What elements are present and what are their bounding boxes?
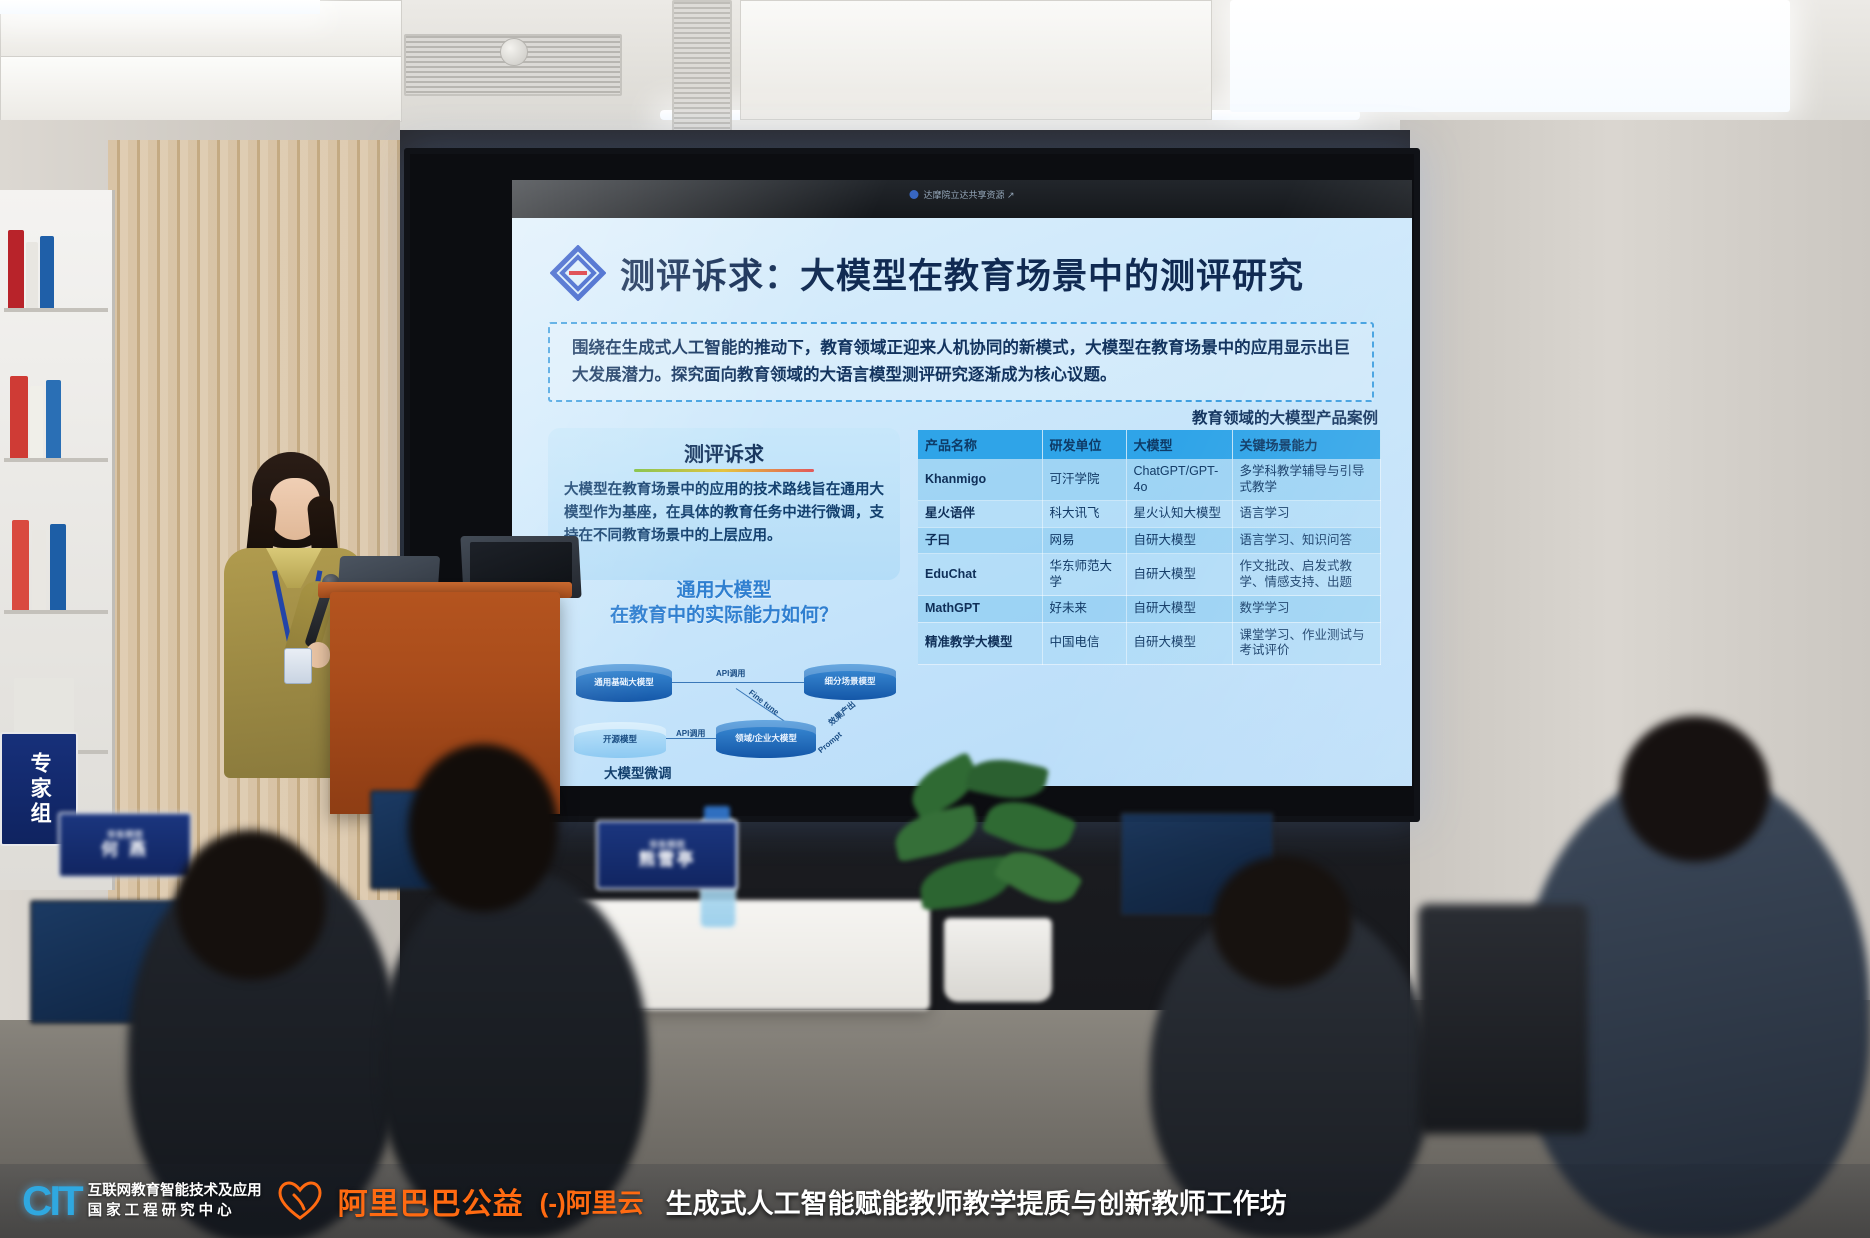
cell-org: 网易	[1042, 527, 1126, 554]
alibaba-heart-icon	[278, 1181, 322, 1221]
table-col-product: 产品名称	[918, 430, 1042, 459]
key-question-line2: 在教育中的实际能力如何？	[548, 603, 900, 628]
cell-org: 华东师范大学	[1042, 554, 1126, 596]
cell-capability: 作文批改、启发式教学、情感支持、出题	[1232, 554, 1380, 596]
cell-model: ChatGPT/GPT-4o	[1126, 459, 1232, 501]
cell-model: 自研大模型	[1126, 622, 1232, 664]
event-title: 生成式人工智能赋能教师教学提质与创新教师工作坊	[666, 1182, 1287, 1221]
ceiling-panel	[740, 0, 1212, 120]
cell-model: 星火认知大模型	[1126, 501, 1232, 528]
diagram-edge-finetune: Fine tune	[747, 688, 781, 717]
ceiling-vent	[672, 0, 732, 132]
table-row: 精准教学大模型 中国电信 自研大模型 课堂学习、作业测试与考试评价	[918, 622, 1380, 664]
key-question: 通用大模型 在教育中的实际能力如何？	[548, 578, 900, 629]
requirement-card: 测评诉求 大模型在教育场景中的应用的技术路线旨在通用大模型作为基座，在具体的教育…	[548, 428, 900, 580]
cell-capability: 数学学习	[1232, 596, 1380, 623]
ceiling-light-strip	[0, 0, 320, 14]
table-row: EduChat 华东师范大学 自研大模型 作文批改、启发式教学、情感支持、出题	[918, 554, 1380, 596]
cell-model: 自研大模型	[1126, 554, 1232, 596]
cit-mark-icon: CIT	[22, 1177, 81, 1225]
photo-scene: 专家组 达摩院立达共享资源 ↗ 测评诉	[0, 0, 1870, 1238]
nameplate: 华东师范 熊雪亭	[596, 820, 738, 890]
cell-org: 好未来	[1042, 596, 1126, 623]
cell-capability: 语言学习、知识问答	[1232, 527, 1380, 554]
table-col-capability: 关键场景能力	[1232, 430, 1380, 459]
intro-paragraph: 围绕在生成式人工智能的推动下，教育领域正迎来人机协同的新模式，大模型在教育场景中…	[572, 335, 1350, 388]
cell-product: EduChat	[918, 554, 1042, 596]
table-row: 星火语伴 科大讯飞 星火认知大模型 语言学习	[918, 501, 1380, 528]
bottom-banner: CIT 互联网教育智能技术及应用 国家工程研究中心 阿里巴巴公益 (-)阿里云 …	[0, 1164, 1870, 1238]
table-title: 教育领域的大模型产品案例	[1192, 406, 1378, 428]
cell-product: 精准教学大模型	[918, 622, 1042, 664]
table-header-row: 产品名称 研发单位 大模型 关键场景能力	[918, 430, 1380, 459]
cell-product: Khanmigo	[918, 459, 1042, 501]
audience-head	[1620, 716, 1770, 862]
cit-logo: CIT 互联网教育智能技术及应用 国家工程研究中心	[22, 1177, 262, 1225]
audience-chair	[1418, 904, 1588, 1134]
diagram-node-base: 通用基础大模型	[576, 664, 672, 702]
fine-tune-diagram: 通用基础大模型 细分场景模型 开源模型 领域/企业大模型 API调用 Fine …	[540, 642, 908, 774]
ceiling-speaker-icon	[500, 38, 528, 66]
diagram-node-domain: 领域/企业大模型	[716, 720, 816, 758]
page-title: 测评诉求：大模型在教育场景中的测评研究	[620, 248, 1304, 299]
cell-org: 可汗学院	[1042, 459, 1126, 501]
presenter-badge	[284, 648, 312, 684]
watermark-dot-icon	[909, 190, 918, 199]
audience-head	[408, 744, 558, 912]
card-body: 大模型在教育场景中的应用的技术路线旨在通用大模型作为基座，在具体的教育任务中进行…	[564, 479, 884, 548]
cell-product: 星火语伴	[918, 501, 1042, 528]
aliyun-logo: (-)阿里云	[540, 1183, 644, 1220]
diagram-edge-output: 效果产出	[826, 699, 858, 728]
cell-capability: 多学科教学辅导与引导式教学	[1232, 459, 1380, 501]
cell-product: MathGPT	[918, 596, 1042, 623]
table-col-model: 大模型	[1126, 430, 1232, 459]
diagram-edge-prompt: Prompt	[816, 730, 843, 755]
diamond-minus-icon	[550, 245, 606, 301]
table-row: 子曰 网易 自研大模型 语言学习、知识问答	[918, 527, 1380, 554]
ceiling-panel	[0, 56, 402, 122]
potted-plant	[890, 760, 1120, 1010]
cit-line1: 互联网教育智能技术及应用	[88, 1183, 262, 1200]
ceiling-light-panel	[1230, 0, 1790, 112]
audience-head	[176, 830, 326, 980]
diagram-edge-api-2: API调用	[676, 728, 705, 739]
table-row: MathGPT 好未来 自研大模型 数学学习	[918, 596, 1380, 623]
nameplate-org: 华东师范	[107, 831, 143, 841]
nameplate-name: 熊雪亭	[639, 851, 696, 870]
table-row: Khanmigo 可汗学院 ChatGPT/GPT-4o 多学科教学辅导与引导式…	[918, 459, 1380, 501]
slide-watermark: 达摩院立达共享资源 ↗	[909, 188, 1014, 201]
diagram-node-open: 开源模型	[574, 722, 666, 758]
watermark-text: 达摩院立达共享资源 ↗	[923, 188, 1014, 201]
diagram-node-scene: 细分场景模型	[804, 664, 896, 700]
key-question-line1: 通用大模型	[548, 578, 900, 603]
cit-line2: 国家工程研究中心	[88, 1203, 262, 1220]
table-col-org: 研发单位	[1042, 430, 1126, 459]
cell-model: 自研大模型	[1126, 527, 1232, 554]
slide-title-row: 测评诉求：大模型在教育场景中的测评研究	[550, 242, 1380, 304]
cell-model: 自研大模型	[1126, 596, 1232, 623]
diagram-edge-api-1: API调用	[716, 668, 745, 679]
alibaba-gongyi-logo: 阿里巴巴公益	[338, 1179, 524, 1223]
nameplate-name: 何 燕	[101, 841, 149, 860]
intro-dashed-box: 围绕在生成式人工智能的推动下，教育领域正迎来人机协同的新模式，大模型在教育场景中…	[548, 322, 1374, 402]
cell-capability: 课堂学习、作业测试与考试评价	[1232, 622, 1380, 664]
cell-org: 科大讯飞	[1042, 501, 1126, 528]
nameplate-org: 华东师范	[649, 841, 685, 851]
products-table: 产品名称 研发单位 大模型 关键场景能力 Khanmigo 可汗学院 ChatG…	[918, 430, 1381, 665]
cell-product: 子曰	[918, 527, 1042, 554]
cell-org: 中国电信	[1042, 622, 1126, 664]
diagram-caption: 大模型微调	[604, 762, 672, 782]
cell-capability: 语言学习	[1232, 501, 1380, 528]
slide-surface: 达摩院立达共享资源 ↗ 测评诉求：大模型在教育场景中的测评研究 围绕在生成式人工…	[512, 180, 1412, 786]
card-underline	[634, 469, 814, 472]
nameplate: 华东师范 何 燕	[58, 812, 192, 878]
card-heading: 测评诉求	[564, 438, 884, 467]
slide-top-bar: 达摩院立达共享资源 ↗	[512, 180, 1412, 218]
audience-head	[1212, 856, 1352, 988]
